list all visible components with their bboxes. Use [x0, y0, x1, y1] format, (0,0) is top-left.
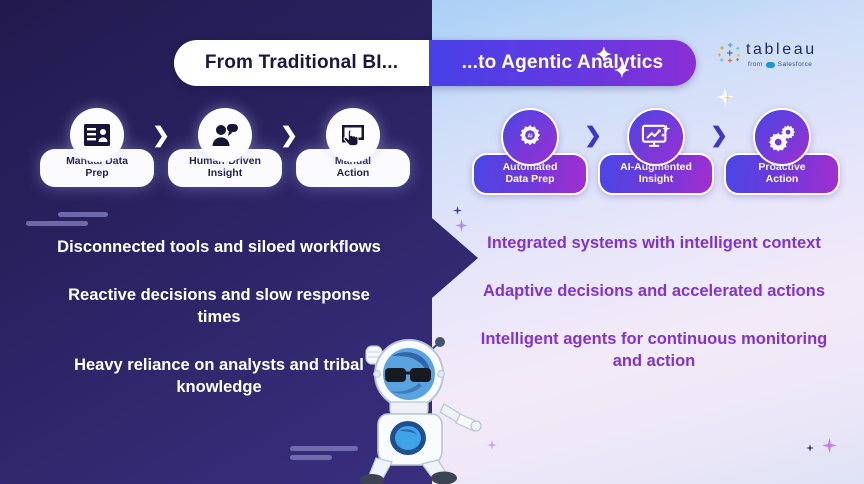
decorative-dash-bottom-long: [290, 446, 358, 451]
gear-ai-icon: AI: [515, 122, 545, 152]
astronaut-robot-mascot: [352, 330, 482, 484]
step-icon-circle: [627, 108, 685, 166]
person-speech-bubble-icon: [211, 123, 239, 147]
left-point-2: Reactive decisions and slow response tim…: [46, 284, 392, 328]
pipeline-step-manual-action[interactable]: Manual Action: [300, 108, 406, 187]
right-point-1: Integrated systems with intelligent cont…: [476, 232, 832, 254]
sparkle-icon-violet-left-edge: [487, 440, 497, 450]
step-icon-circle: [198, 108, 252, 162]
hand-click-screen-icon: [340, 123, 366, 147]
tableau-wordmark: tableau: [746, 41, 817, 59]
sparkle-icon-banner-lower: ✦: [614, 60, 630, 83]
banner-right-text: ...to Agentic Analytics: [462, 52, 664, 74]
sparkle-icon-blue-mid: [453, 206, 462, 215]
banner-right-half: ...to Agentic Analytics ✦ ✦: [429, 40, 696, 86]
pipeline-chevron-2: ❯: [278, 108, 300, 162]
traditional-bi-pipeline: Manual Data Prep ❯ Human-Driven Insight …: [44, 108, 406, 187]
agentic-analytics-pipeline: AI Automated Data Prep ❯: [478, 108, 834, 195]
decorative-dash-bottom-short: [290, 455, 332, 460]
id-card-form-icon: [84, 124, 110, 146]
dual-gears-icon: [767, 122, 797, 152]
tagline-prefix: from: [748, 61, 763, 68]
pipeline-step-proactive-action[interactable]: Proactive Action: [730, 108, 834, 195]
title-banner: From Traditional BI... ...to Agentic Ana…: [174, 40, 696, 86]
pipeline-step-automated-data-prep[interactable]: AI Automated Data Prep: [478, 108, 582, 195]
traditional-bi-points: Disconnected tools and siloed workflows …: [46, 236, 392, 399]
step-label-line2: Action: [300, 167, 406, 179]
left-point-1: Disconnected tools and siloed workflows: [46, 236, 392, 258]
tableau-plus-grid-icon: [716, 42, 742, 64]
tableau-tagline: from Salesforce: [748, 61, 812, 68]
sparkle-icon-yellow: [723, 93, 732, 102]
left-point-3: Heavy reliance on analysts and tribal kn…: [46, 354, 392, 398]
step-icon-circle: [753, 108, 811, 166]
svg-text:AI: AI: [527, 134, 533, 140]
pipeline-chevron-4: ❯: [708, 108, 730, 162]
step-label-line2: Insight: [604, 173, 708, 185]
pipeline-step-human-driven-insight[interactable]: Human-Driven Insight: [172, 108, 278, 187]
salesforce-cloud-icon: [766, 62, 775, 68]
slide-canvas: From Traditional BI... ...to Agentic Ana…: [0, 0, 864, 484]
step-label-line2: Insight: [172, 167, 278, 179]
step-icon-circle: [70, 108, 124, 162]
sparkle-icon-violet-bottom-right: [822, 438, 837, 453]
sparkle-icon-purple-mid: [455, 219, 468, 232]
pipeline-step-ai-augmented-insight[interactable]: AI-Augmented Insight: [604, 108, 708, 195]
sparkle-icon-banner-upper: ✦: [596, 44, 612, 67]
tableau-logo: tableau from Salesforce: [716, 40, 834, 74]
decorative-dash-top-long: [26, 221, 88, 226]
pipeline-chevron-1: ❯: [150, 108, 172, 162]
right-point-2: Adaptive decisions and accelerated actio…: [476, 280, 832, 302]
step-icon-circle: [326, 108, 380, 162]
right-point-3: Intelligent agents for continuous monito…: [476, 328, 832, 372]
monitor-chart-sparkle-icon: [641, 123, 671, 151]
agentic-analytics-points: Integrated systems with intelligent cont…: [476, 232, 832, 372]
tagline-brand: Salesforce: [778, 61, 813, 68]
pipeline-step-manual-data-prep[interactable]: Manual Data Prep: [44, 108, 150, 187]
pipeline-chevron-3: ❯: [582, 108, 604, 162]
step-label-line2: Data Prep: [478, 173, 582, 185]
banner-left-text: From Traditional BI...: [205, 52, 398, 74]
step-label-line2: Action: [730, 173, 834, 185]
step-label-line2: Prep: [44, 167, 150, 179]
sparkle-icon-navy-bottom-right: [806, 444, 814, 452]
banner-left-half: From Traditional BI...: [174, 40, 429, 86]
decorative-dash-top-short: [58, 212, 108, 217]
step-icon-circle: AI: [501, 108, 559, 166]
